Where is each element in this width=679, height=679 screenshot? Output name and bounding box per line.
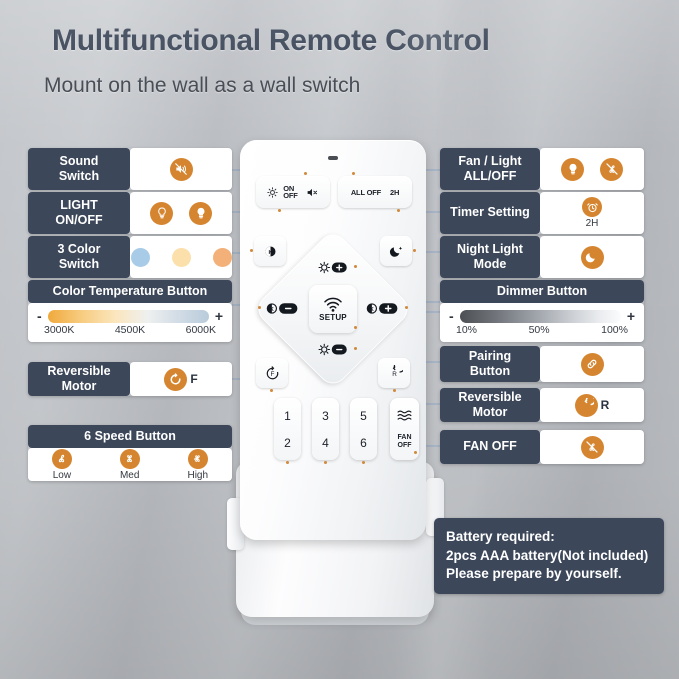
fan-med-icon (120, 449, 140, 469)
color-dot-neutral (172, 248, 191, 267)
svg-text:K: K (370, 306, 374, 312)
speed-6: 6 (360, 436, 367, 450)
remote-body: ON OFF ALL OFF 2H (240, 140, 426, 540)
svg-text:R: R (392, 371, 397, 378)
battery-line-1: Battery required: (446, 529, 555, 544)
button-night-light[interactable] (380, 236, 412, 266)
callout-color-temperature[interactable]: Color Temperature Button - + 3000K 4500K… (28, 280, 232, 342)
fan-off-icon (600, 158, 623, 181)
callout-light-onoff[interactable]: LIGHTON/OFF (28, 192, 232, 234)
label-off: OFF (283, 192, 297, 200)
callout-label: 3 ColorSwitch (28, 236, 130, 278)
callout-icons: 2H (540, 192, 644, 234)
fan-high-icon (188, 449, 208, 469)
callout-6-speed[interactable]: 6 Speed Button Low (28, 425, 232, 481)
button-motor-forward[interactable]: F (256, 358, 288, 388)
button-color-k[interactable]: K (254, 236, 286, 266)
svg-text:F: F (270, 371, 274, 378)
minus-sign: - (37, 309, 42, 323)
wind-waves-icon (396, 409, 413, 422)
speed-1: 1 (284, 409, 291, 423)
rotate-reverse-icon: R (386, 365, 403, 382)
callout-icons (130, 236, 232, 278)
tick-4500k: 4500K (115, 324, 145, 336)
color-temperature-slider[interactable]: - + (28, 309, 232, 323)
callout-label: Night LightMode (440, 236, 540, 278)
speed-high: High (187, 449, 208, 481)
motor-reverse-tag: R (601, 398, 610, 412)
tick-100: 100% (601, 324, 628, 336)
motor-forward-group: F (164, 368, 197, 391)
callout-3-color-switch[interactable]: 3 ColorSwitch (28, 236, 232, 278)
light-bulb-icon (561, 158, 584, 181)
plus-sign: + (215, 309, 223, 323)
fan-off-icon (581, 436, 604, 459)
label-2h: 2H (390, 188, 399, 197)
callout-icons: F (130, 362, 232, 396)
rocker-speed-1-2[interactable]: 1 2 (274, 398, 301, 460)
rocker-speed-3-4[interactable]: 3 4 (312, 398, 339, 460)
button-motor-reverse[interactable]: R (378, 358, 410, 388)
callout-pairing-button[interactable]: PairingButton (440, 346, 644, 382)
speed-3: 3 (322, 409, 329, 423)
callout-label: 6 Speed Button (28, 425, 232, 448)
callout-icons (130, 192, 232, 234)
speed-2: 2 (284, 436, 291, 450)
brightness-plus-icon (318, 260, 348, 275)
battery-note: Battery required: 2pcs AAA battery(Not i… (434, 518, 664, 594)
ir-emitter (328, 156, 338, 160)
infographic-canvas: Multifunctional Remote Control Mount on … (0, 0, 679, 679)
callout-reversible-motor-forward[interactable]: Reversible Motor F (28, 362, 232, 396)
callout-icons (540, 346, 644, 382)
callout-fan-light-alloff[interactable]: Fan / LightALL/OFF (440, 148, 644, 190)
button-fan-off[interactable]: FANOFF (390, 398, 419, 460)
button-alloff-2h[interactable]: ALL OFF 2H (338, 176, 412, 208)
battery-line-2: 2pcs AAA battery(Not included) (446, 548, 648, 563)
wifi-icon (322, 296, 344, 312)
motor-forward-tag: F (190, 372, 197, 386)
moon-icon (581, 246, 604, 269)
speed-low: Low (52, 449, 72, 481)
fan-off-label: FANOFF (398, 434, 412, 449)
speed-med: Med (120, 449, 140, 481)
sun-icon (267, 187, 278, 198)
rotate-reverse-icon (575, 394, 598, 417)
k-color-icon: K (263, 244, 278, 259)
tick-3000k: 3000K (44, 324, 74, 336)
tick-50: 50% (529, 324, 550, 336)
light-off-icon (150, 202, 173, 225)
brightness-minus-icon (318, 342, 348, 357)
callout-label: Fan / LightALL/OFF (440, 148, 540, 190)
setup-label: SETUP (319, 313, 347, 322)
callout-sound-switch[interactable]: SoundSwitch (28, 148, 232, 190)
color-temperature-panel: - + 3000K 4500K 6000K (28, 303, 232, 342)
callout-icons: R (540, 388, 644, 422)
callout-icons (540, 430, 644, 464)
tick-10: 10% (456, 324, 477, 336)
speed-low-label: Low (53, 470, 71, 481)
callout-timer-setting[interactable]: Timer Setting 2H (440, 192, 644, 234)
button-colortemp-plus[interactable]: K (362, 298, 404, 318)
speed-5: 5 (360, 409, 367, 423)
minus-sign: - (449, 309, 454, 323)
button-light-onoff[interactable]: ON OFF (256, 176, 330, 208)
battery-line-3: Please prepare by yourself. (446, 566, 622, 581)
callout-icons (540, 236, 644, 278)
callout-reversible-motor-reverse[interactable]: Reversible Motor R (440, 388, 644, 422)
color-dot-cool (131, 248, 150, 267)
rocker-speed-5-6[interactable]: 5 6 (350, 398, 377, 460)
button-colortemp-minus[interactable]: K (262, 298, 304, 318)
moon-star-icon (389, 244, 404, 259)
button-brightness-minus[interactable] (314, 340, 352, 358)
color-temperature-ticks: 3000K 4500K 6000K (28, 323, 232, 336)
dimmer-ticks: 10% 50% 100% (440, 323, 644, 336)
callout-label: PairingButton (440, 346, 540, 382)
rotate-forward-icon (164, 368, 187, 391)
dimmer-gradient (460, 310, 621, 323)
callout-icons (130, 148, 232, 190)
colortemp-minus-icon: K (266, 301, 300, 316)
speed-high-label: High (187, 470, 208, 481)
fan-low-icon (52, 449, 72, 469)
tick-6000k: 6000K (186, 324, 216, 336)
light-on-icon (189, 202, 212, 225)
callout-label: Timer Setting (440, 192, 540, 234)
alarm-clock-icon (582, 197, 602, 217)
link-chain-icon (581, 353, 604, 376)
plus-sign: + (627, 309, 635, 323)
callout-fan-off[interactable]: FAN OFF (440, 430, 644, 464)
dimmer-slider[interactable]: - + (440, 309, 644, 323)
callout-label: FAN OFF (440, 430, 540, 464)
timer-group: 2H (582, 197, 602, 229)
callout-label: Reversible Motor (28, 362, 130, 396)
timer-duration: 2H (586, 218, 599, 229)
color-dot-warm (213, 248, 232, 267)
callout-icons (540, 148, 644, 190)
speaker-mute-icon (306, 186, 319, 199)
speed-med-label: Med (120, 470, 139, 481)
sound-mute-icon (170, 158, 193, 181)
button-setup[interactable]: SETUP (309, 285, 357, 333)
callout-label: SoundSwitch (28, 148, 130, 190)
label-all-off: ALL OFF (351, 188, 381, 197)
speed-4: 4 (322, 436, 329, 450)
dimmer-panel: - + 10% 50% 100% (440, 303, 644, 342)
callout-label: Dimmer Button (440, 280, 644, 303)
callout-label: Reversible Motor (440, 388, 540, 422)
button-brightness-plus[interactable] (314, 258, 352, 276)
colortemp-plus-icon: K (366, 301, 400, 316)
callout-label: LIGHTON/OFF (28, 192, 130, 234)
remote-control-device: ON OFF ALL OFF 2H (228, 140, 443, 620)
svg-text:K: K (268, 250, 272, 256)
rotate-forward-icon: F (264, 365, 281, 382)
speed-panel: Low Med (28, 448, 232, 481)
callout-label: Color Temperature Button (28, 280, 232, 303)
callout-dimmer[interactable]: Dimmer Button - + 10% 50% 100% (440, 280, 644, 342)
callout-night-light-mode[interactable]: Night LightMode (440, 236, 644, 278)
color-temperature-gradient (48, 310, 209, 323)
svg-text:K: K (270, 306, 274, 312)
color-dots (131, 248, 232, 267)
motor-reverse-group: R (575, 394, 610, 417)
